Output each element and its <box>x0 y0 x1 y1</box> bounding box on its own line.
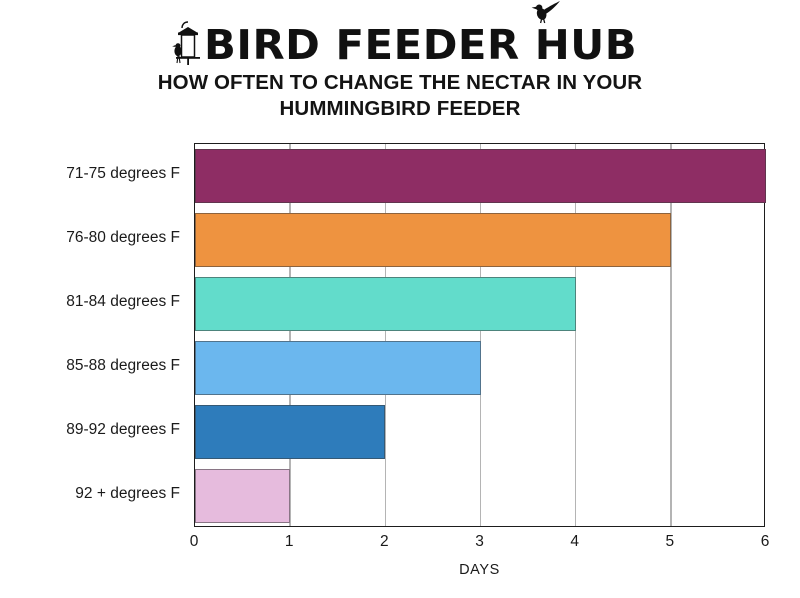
x-axis-tick-label: 2 <box>380 533 389 551</box>
bar-row <box>195 469 764 524</box>
x-axis-tick-label: 1 <box>285 533 294 551</box>
y-axis-label: 89-92 degrees F <box>0 421 180 439</box>
y-axis-label: 71-75 degrees F <box>0 165 180 183</box>
x-axis-tick-label: 4 <box>570 533 579 551</box>
bar <box>195 469 290 524</box>
bar-row <box>195 341 764 396</box>
y-axis-label: 76-80 degrees F <box>0 229 180 247</box>
bar <box>195 149 766 204</box>
x-axis-ticks: 0123456 <box>194 527 765 557</box>
bar-row <box>195 149 764 204</box>
x-axis-tick-label: 6 <box>761 533 770 551</box>
y-axis-label: 85-88 degrees F <box>0 357 180 375</box>
bars-container <box>195 144 764 526</box>
bar <box>195 405 385 460</box>
y-axis-label: 81-84 degrees F <box>0 293 180 311</box>
y-axis-labels: 71-75 degrees F76-80 degrees F81-84 degr… <box>0 143 180 527</box>
y-axis-label: 92 + degrees F <box>0 485 180 503</box>
bar <box>195 277 576 332</box>
bar-row <box>195 405 764 460</box>
bar-row <box>195 213 764 268</box>
chart-page: BIRD FEEDER HUB HOW OFTEN TO CHANGE THE … <box>0 0 800 598</box>
x-axis-title: DAYS <box>194 562 765 578</box>
plot-area <box>194 143 765 527</box>
x-axis-tick-label: 0 <box>190 533 199 551</box>
bar-row <box>195 277 764 332</box>
bar-chart: 71-75 degrees F76-80 degrees F81-84 degr… <box>0 0 800 598</box>
x-axis-tick-label: 3 <box>475 533 484 551</box>
bar <box>195 341 481 396</box>
bar <box>195 213 671 268</box>
x-axis-tick-label: 5 <box>666 533 675 551</box>
